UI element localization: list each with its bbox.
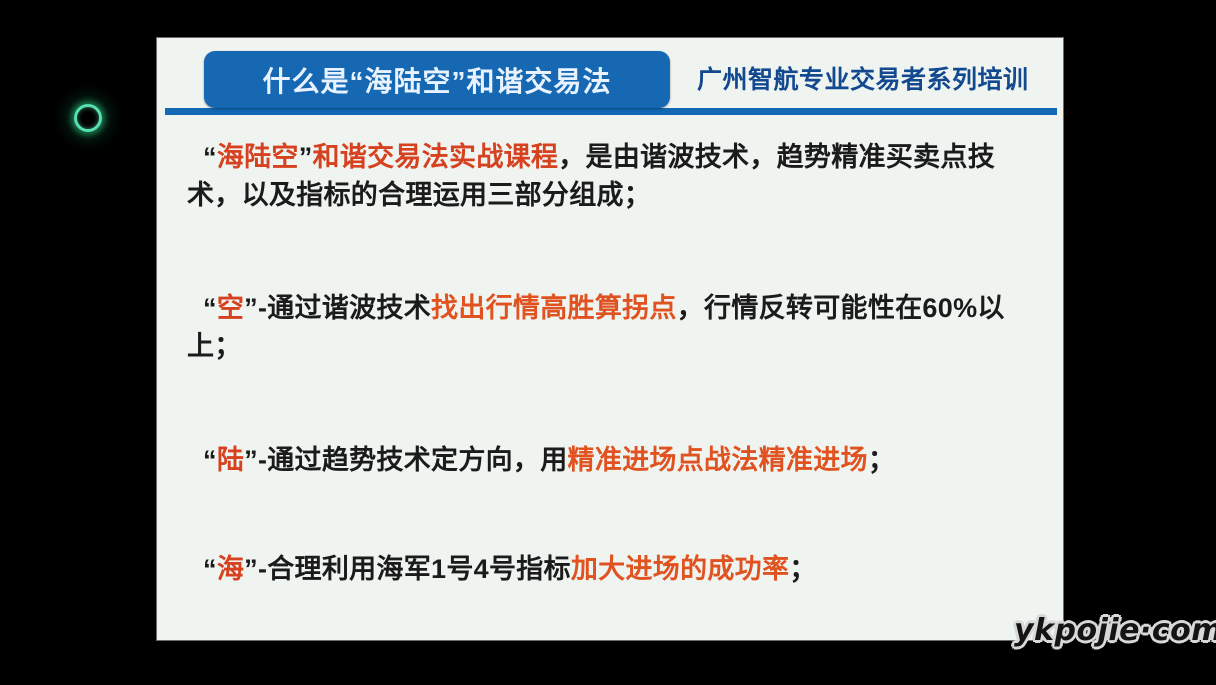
green-ring-icon [74,104,102,132]
slide-paragraph-2: “空”-通过谐波技术找出行情高胜算拐点，行情反转可能性在60%以上； [187,289,1033,366]
text-run: ” [244,554,258,584]
text-run: 海陆空 [217,142,299,172]
text-run: “ [203,554,217,584]
slide-paragraph-3: “陆”-通过趋势技术定方向，用精准进场点战法精准进场； [187,441,1033,479]
text-run: 加大进场的成功率 [571,554,789,584]
slide-body: “海陆空”和谐交易法实战课程，是由谐波技术，趋势精准买卖点技术，以及指标的合理运… [157,118,1063,588]
slide-paragraph-1: “海陆空”和谐交易法实战课程，是由谐波技术，趋势精准买卖点技术，以及指标的合理运… [187,138,1033,215]
slide-title-pill: 什么是“海陆空”和谐交易法 [204,51,670,108]
projector-backdrop: 什么是“海陆空”和谐交易法 广州智航专业交易者系列培训 “海陆空”和谐交易法实战… [0,0,1216,685]
text-run: ” [299,142,313,172]
text-run: “ [203,293,217,323]
text-run: -通过谐波技术 [258,293,431,323]
text-run: “ [203,142,217,172]
presentation-slide: 什么是“海陆空”和谐交易法 广州智航专业交易者系列培训 “海陆空”和谐交易法实战… [157,38,1063,640]
text-run: ； [868,445,895,475]
text-run: -合理利用海军1号4号指标 [258,554,571,584]
text-run: -通过趋势技术定方向，用 [258,445,568,475]
text-run: 精准进场点战法精准进场 [568,445,868,475]
header-divider-rule [165,108,1057,115]
text-run: “ [203,445,217,475]
brand-title: 广州智航专业交易者系列培训 [697,60,1029,96]
text-run: ” [244,445,258,475]
text-run: 海 [217,554,244,584]
text-run: ” [244,293,258,323]
text-run: 陆 [217,445,244,475]
text-run: ； [789,554,816,584]
text-run: 空 [217,293,244,323]
text-run: 和谐交易法实战课程 [313,142,559,172]
text-run: 找出行情高胜算拐点 [431,293,677,323]
slide-header: 什么是“海陆空”和谐交易法 广州智航专业交易者系列培训 [157,38,1063,118]
slide-title-text: 什么是“海陆空”和谐交易法 [262,60,611,100]
site-watermark: ykpojie·com [1014,613,1216,648]
slide-paragraph-4: “海”-合理利用海军1号4号指标加大进场的成功率； [187,550,1033,588]
